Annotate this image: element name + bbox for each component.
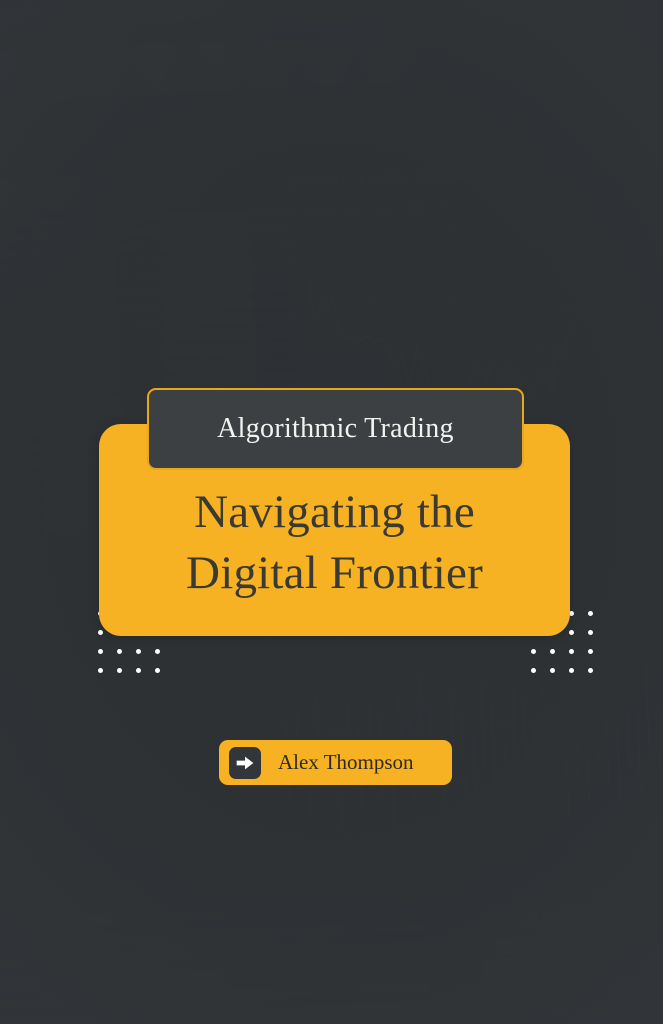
dot bbox=[569, 668, 574, 673]
dot bbox=[155, 668, 160, 673]
dot bbox=[98, 649, 103, 654]
dot bbox=[117, 668, 122, 673]
dot bbox=[117, 649, 122, 654]
dot bbox=[531, 649, 536, 654]
arrow-right-icon bbox=[229, 747, 261, 779]
dot bbox=[588, 611, 593, 616]
dot bbox=[550, 668, 555, 673]
dot bbox=[136, 668, 141, 673]
dot bbox=[550, 649, 555, 654]
author-badge: Alex Thompson bbox=[219, 740, 452, 785]
title-line-1: Navigating the bbox=[99, 482, 570, 543]
dot bbox=[588, 649, 593, 654]
dot bbox=[98, 668, 103, 673]
book-cover: EURUSD - 1,36379 - 00:00:00 14 giu (EEST… bbox=[0, 0, 663, 1024]
dot bbox=[155, 649, 160, 654]
dot bbox=[98, 630, 103, 635]
dot bbox=[569, 649, 574, 654]
author-name: Alex Thompson bbox=[278, 752, 414, 773]
category-banner: Algorithmic Trading bbox=[147, 388, 524, 470]
dot bbox=[136, 649, 141, 654]
book-title: Navigating the Digital Frontier bbox=[99, 482, 570, 604]
title-line-2: Digital Frontier bbox=[99, 543, 570, 604]
category-label: Algorithmic Trading bbox=[217, 415, 454, 443]
dot bbox=[588, 630, 593, 635]
dot bbox=[531, 668, 536, 673]
dot bbox=[569, 630, 574, 635]
dot bbox=[588, 668, 593, 673]
